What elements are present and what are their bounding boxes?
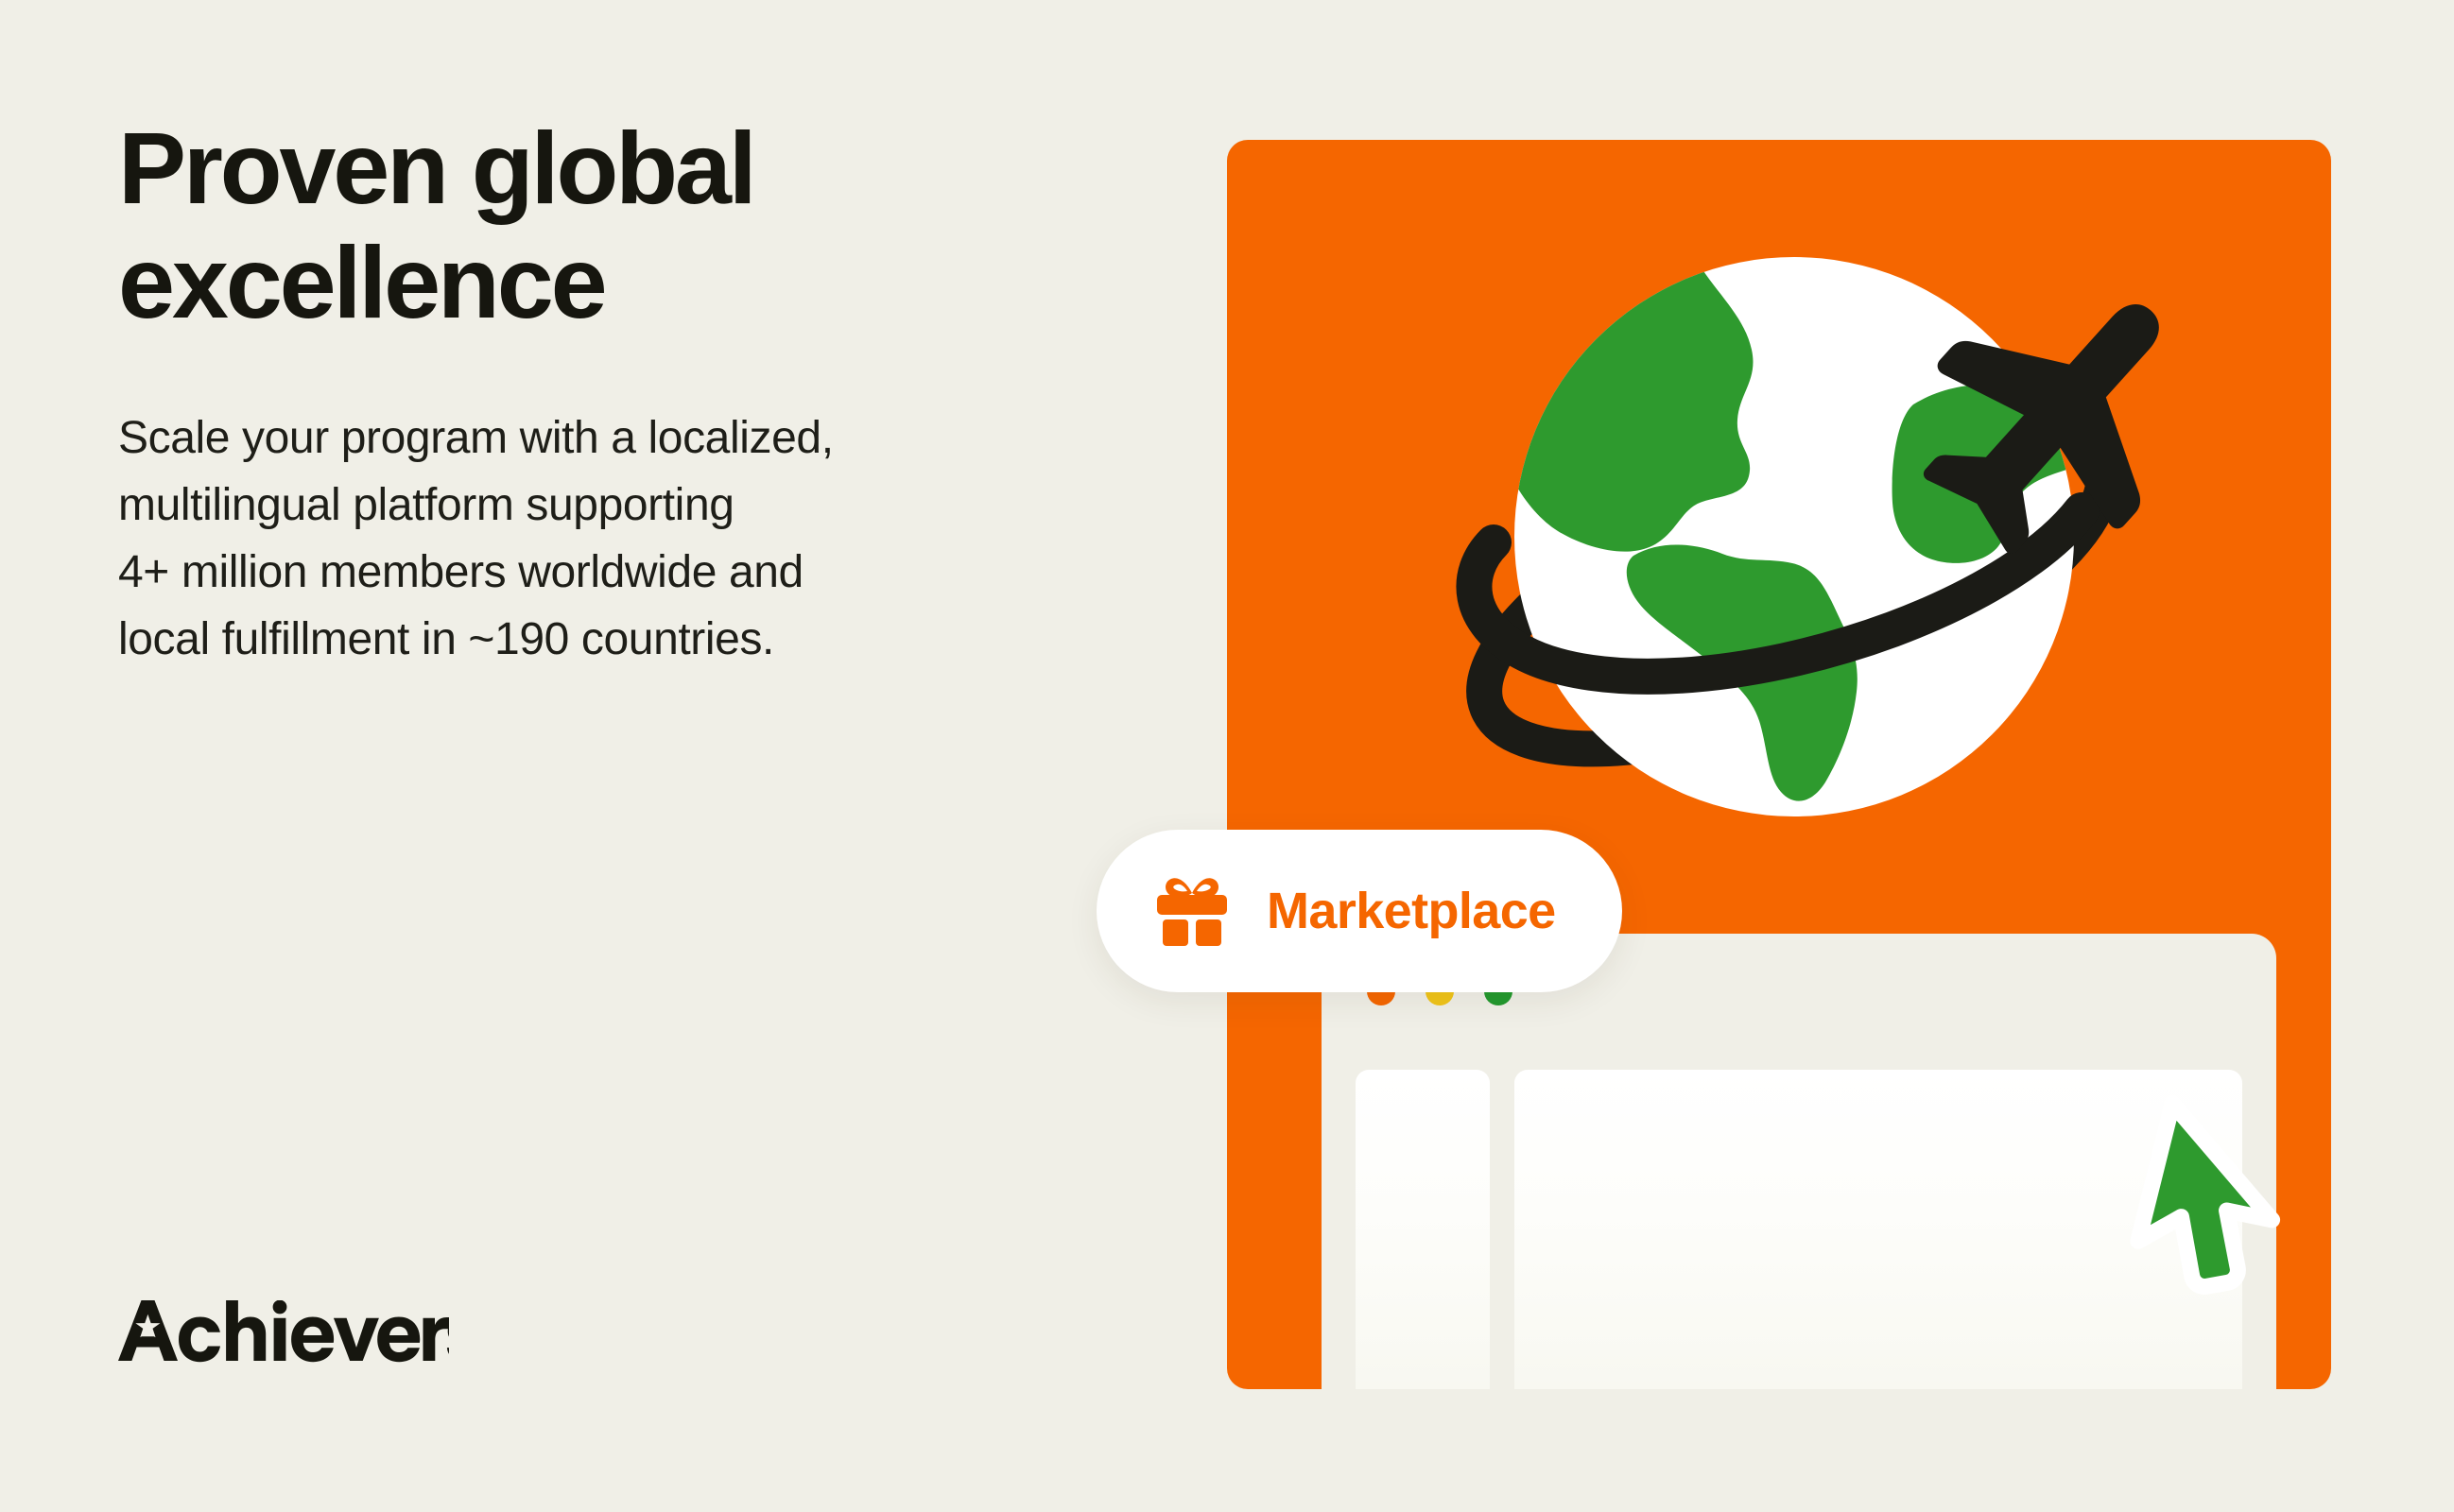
- marketplace-pill[interactable]: Marketplace: [1097, 830, 1622, 992]
- achievers-logo: [118, 1300, 449, 1363]
- content-column: Proven global excellence Scale your prog…: [118, 0, 1120, 1512]
- browser-window-mockup: [1322, 934, 2276, 1389]
- illustration-panel: [1227, 140, 2331, 1389]
- description-paragraph: Scale your program with a localized, mul…: [118, 404, 1073, 673]
- page-title: Proven global excellence: [118, 112, 1063, 340]
- description-line-2: multilingual platform supporting: [118, 472, 1073, 539]
- gift-icon: [1155, 876, 1229, 946]
- description-line-1: Scale your program with a localized,: [118, 404, 1073, 472]
- main-content-panel: [1514, 1070, 2242, 1389]
- sidebar-panel: [1356, 1070, 1490, 1389]
- browser-content-panels: [1356, 1070, 2276, 1389]
- description-line-3: 4+ million members worldwide and: [118, 539, 1073, 606]
- marketplace-label: Marketplace: [1267, 885, 1556, 936]
- description-line-4: local fulfillment in ~190 countries.: [118, 606, 1073, 673]
